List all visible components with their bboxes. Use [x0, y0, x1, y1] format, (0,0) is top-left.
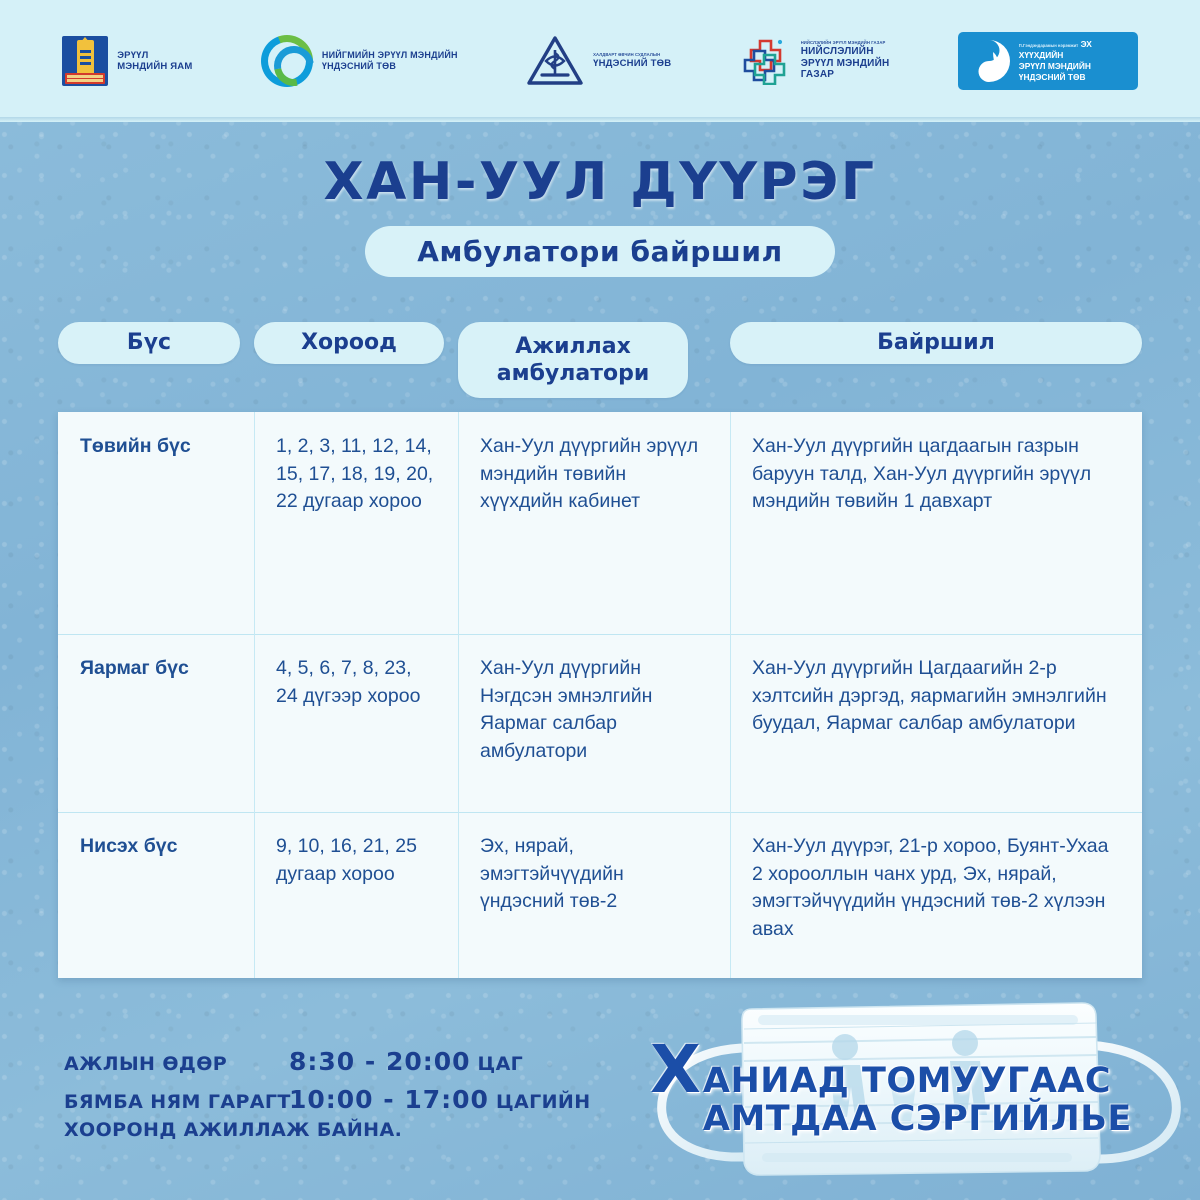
logo-capital-health-department: НИЙСЛЭЛИЙН ЭРҮҮЛ МЭНДИЙН ГАЗАР НИЙСЛЭЛИЙ… — [740, 37, 890, 85]
column-header-location: Байршил — [730, 322, 1142, 364]
schedule-weekend-time: 10:00 - 17:00 — [289, 1081, 489, 1119]
cell-zone: Нисэх бүс — [58, 812, 254, 978]
cell-location: Хан-Уул дүүргийн Цагдаагийн 2-р хэлтсийн… — [730, 634, 1142, 812]
slogan-line-2: АМТДАА СЭРГИЙЛЬЕ — [703, 1102, 1132, 1137]
logo5-line3: ҮНДЭСНИЙ ТӨВ — [1019, 72, 1086, 82]
mother-child-emblem-icon — [966, 38, 1012, 84]
cell-khoroos: 9, 10, 16, 21, 25 дугаар хороо — [254, 812, 458, 978]
organization-logo-band: ЭРҮҮЛ МЭНДИЙН ЯАМ НИЙГМИЙН ЭРҮҮЛ МЭНДИЙН… — [0, 0, 1200, 122]
triangle-asclepius-logo-icon — [526, 35, 584, 87]
schedule-weekend-suffix: ЦАГИЙН — [496, 1088, 591, 1117]
cell-khoroos: 1, 2, 3, 11, 12, 14, 15, 17, 18, 19, 20,… — [254, 412, 458, 634]
logo5-tiny: П.Гэндэндарамын нэрэмжит — [1019, 43, 1078, 48]
logo4-line2: ЭРҮҮЛ МЭНДИЙН — [801, 58, 890, 69]
logo1-line1: ЭРҮҮЛ — [117, 50, 148, 61]
slogan-initial: X — [650, 1043, 701, 1097]
working-hours-block: АЖЛЫН ӨДӨР 8:30 - 20:00 ЦАГ БЯМБА НЯМ ГА… — [64, 1043, 591, 1141]
cell-location: Хан-Уул дүүргийн цагдаагын газрын баруун… — [730, 412, 1142, 634]
logo-mch-label: П.Гэндэндарамын нэрэмжит ЭХ ХҮҮХДИЙН ЭРҮ… — [1019, 39, 1130, 83]
double-cross-logo-icon — [740, 37, 792, 85]
schedule-weekend-label: БЯМБА НЯМ ГАРАГТ — [64, 1088, 282, 1117]
cell-clinic: Хан-Уул дүүргийн эрүүл мэндийн төвийн хү… — [458, 412, 730, 634]
table-row: Яармаг бүс 4, 5, 6, 7, 8, 23, 24 дүгээр … — [58, 634, 1142, 812]
logo-national-center-public-health: НИЙГМИЙН ЭРҮҮЛ МЭНДИЙН ҮНДЭСНИЙ ТӨВ — [261, 35, 458, 87]
logo3-line1: ҮНДЭСНИЙ ТӨВ — [593, 58, 671, 69]
slogan-text: X АНИАД ТОМУУГААС АМТДАА СЭРГИЙЛЬЕ — [650, 1043, 1200, 1137]
logo4-line1: НИЙСЛЭЛИЙН — [801, 46, 874, 57]
ambulatory-locations-table: Төвийн бүс 1, 2, 3, 11, 12, 14, 15, 17, … — [58, 412, 1142, 978]
logo-nccd-label: ХАЛДВАРТ ӨВЧИН СУДЛАЛЫН ҮНДЭСНИЙ ТӨВ — [593, 53, 671, 69]
schedule-weekday-label: АЖЛЫН ӨДӨР — [64, 1050, 282, 1079]
column-header-clinic: Ажиллах амбулатори — [458, 322, 688, 398]
logo-ministry-of-health-label: ЭРҮҮЛ МЭНДИЙН ЯАМ — [117, 50, 192, 72]
logo4-line3: ГАЗАР — [801, 69, 834, 80]
column-header-zone: Бүс — [58, 322, 240, 364]
schedule-weekend-row: БЯМБА НЯМ ГАРАГТ 10:00 - 17:00 ЦАГИЙН — [64, 1081, 591, 1119]
schedule-note: ХООРОНД АЖИЛЛАЖ БАЙНА. — [64, 1119, 591, 1141]
table-column-headers: Бүс Хороод Ажиллах амбулатори Байршил — [58, 322, 1142, 410]
page-title: ХАН-УУЛ ДҮҮРЭГ — [0, 152, 1200, 212]
table-row: Нисэх бүс 9, 10, 16, 21, 25 дугаар хороо… — [58, 812, 1142, 978]
page-subtitle: Амбулатори байршил — [365, 226, 834, 277]
mongolia-soyombo-emblem-icon — [62, 36, 108, 86]
schedule-weekday-time: 8:30 - 20:00 — [289, 1043, 471, 1081]
swirl-circle-logo-icon — [261, 35, 313, 87]
title-block: ХАН-УУЛ ДҮҮРЭГ Амбулатори байршил — [0, 152, 1200, 277]
cell-khoroos: 4, 5, 6, 7, 8, 23, 24 дүгээр хороо — [254, 634, 458, 812]
cell-clinic: Эх, нярай, эмэгтэйчүүдийн үндэсний төв-2 — [458, 812, 730, 978]
logo1-line2: МЭНДИЙН ЯАМ — [117, 61, 192, 72]
schedule-weekday-row: АЖЛЫН ӨДӨР 8:30 - 20:00 ЦАГ — [64, 1043, 591, 1081]
cell-zone: Төвийн бүс — [58, 412, 254, 634]
maternal-child-badge: П.Гэндэндарамын нэрэмжит ЭХ ХҮҮХДИЙН ЭРҮ… — [958, 32, 1138, 90]
logo-national-center-communicable-diseases: ХАЛДВАРТ ӨВЧИН СУДЛАЛЫН ҮНДЭСНИЙ ТӨВ — [526, 35, 671, 87]
column-header-khoroos: Хороод — [254, 322, 444, 364]
logo5-line2: ЭРҮҮЛ МЭНДИЙН — [1019, 61, 1091, 71]
logo-ministry-of-health: ЭРҮҮЛ МЭНДИЙН ЯАМ — [62, 36, 192, 86]
campaign-slogan-area: X АНИАД ТОМУУГААС АМТДАА СЭРГИЙЛЬЕ — [640, 985, 1200, 1200]
schedule-weekday-suffix: ЦАГ — [478, 1050, 524, 1079]
logo-ncph-label: НИЙГМИЙН ЭРҮҮЛ МЭНДИЙН ҮНДЭСНИЙ ТӨВ — [322, 50, 458, 71]
slogan-line-1: АНИАД ТОМУУГААС — [703, 1064, 1132, 1099]
cell-zone: Яармаг бүс — [58, 634, 254, 812]
cell-clinic: Хан-Уул дүүргийн Нэгдсэн эмнэлгийн Яарма… — [458, 634, 730, 812]
logo-chd-label: НИЙСЛЭЛИЙН ЭРҮҮЛ МЭНДИЙН ГАЗАР НИЙСЛЭЛИЙ… — [801, 41, 890, 81]
logo2-line2: ҮНДЭСНИЙ ТӨВ — [322, 61, 396, 71]
logo-maternal-child-health-center: П.Гэндэндарамын нэрэмжит ЭХ ХҮҮХДИЙН ЭРҮ… — [958, 32, 1138, 90]
cell-location: Хан-Уул дүүрэг, 21-р хороо, Буянт-Ухаа 2… — [730, 812, 1142, 978]
logo2-line1: НИЙГМИЙН ЭРҮҮЛ МЭНДИЙН — [322, 50, 458, 60]
table-row: Төвийн бүс 1, 2, 3, 11, 12, 14, 15, 17, … — [58, 412, 1142, 634]
